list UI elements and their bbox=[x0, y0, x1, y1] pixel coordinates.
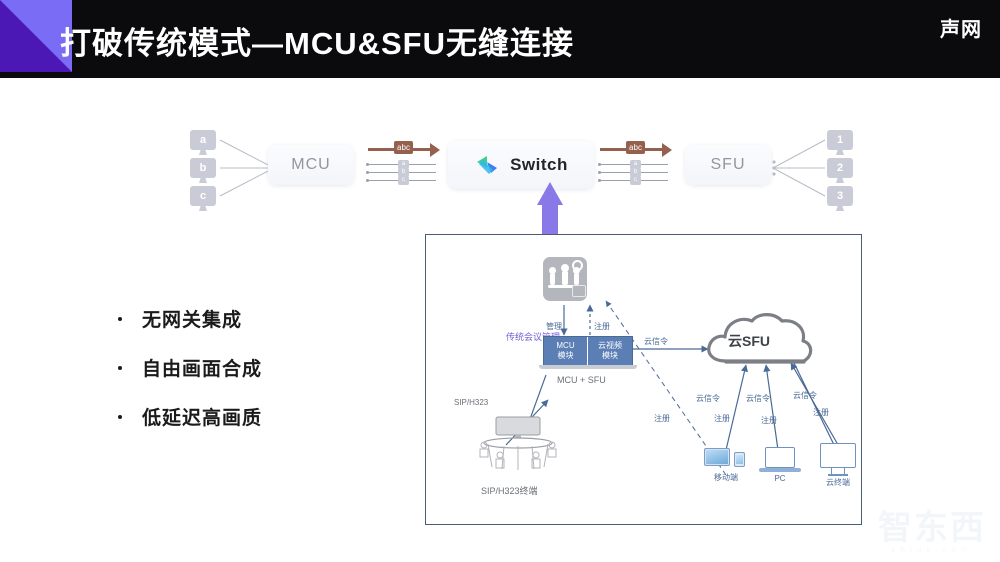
module-cloud-video-line2: 模块 bbox=[602, 351, 618, 361]
top-flow-diagram: a b c MCU abc a b bbox=[0, 118, 1000, 198]
cloud-signal-label-mobile: 云信令 bbox=[696, 393, 720, 404]
module-caption: MCU + SFU bbox=[557, 375, 606, 385]
cloud-signal-label-cloudterm: 云信令 bbox=[793, 390, 817, 401]
module-cloud-video: 云视频 模块 bbox=[588, 337, 632, 365]
bullet-item-2: 自由画面合成 bbox=[118, 354, 262, 381]
output-fan-out-lines bbox=[771, 128, 827, 208]
source-monitor-a: a bbox=[190, 130, 216, 150]
bullet-dot-icon bbox=[118, 415, 122, 419]
module-mcu-line1: MCU bbox=[556, 341, 574, 351]
node-mcu-label: MCU bbox=[291, 156, 330, 174]
register-label-mobile: 注册 bbox=[714, 413, 730, 424]
module-mcu-line2: 模块 bbox=[558, 351, 574, 361]
laptop-icon bbox=[765, 447, 795, 468]
cloud-signal-label-left: 云信令 bbox=[644, 336, 668, 347]
bullet-label-3: 低延迟高画质 bbox=[142, 403, 262, 430]
source-monitor-c-label: c bbox=[200, 190, 206, 202]
settings-gear-icon bbox=[572, 260, 583, 271]
device-pc-label: PC bbox=[759, 474, 801, 483]
switch-icon bbox=[474, 154, 500, 176]
monitor-sub-icon bbox=[572, 285, 586, 297]
output-monitor-2-label: 2 bbox=[837, 162, 843, 174]
architecture-panel: 传统会议管理 管理 注册 MCU 模块 云视频 模块 bbox=[425, 234, 862, 525]
output-monitor-1: 1 bbox=[827, 130, 853, 150]
node-switch-label: Switch bbox=[510, 155, 568, 175]
page-title: 打破传统模式—MCU&SFU无缝连接 bbox=[60, 18, 574, 63]
watermark-text: 智东西 bbox=[878, 500, 986, 549]
meeting-management-icon bbox=[543, 257, 587, 301]
stream-arrow-group-right: abc a b c bbox=[600, 146, 672, 188]
tablet-icon bbox=[704, 448, 730, 466]
sip-h323-label: SIP/H323 bbox=[454, 398, 488, 407]
node-sfu-label: SFU bbox=[711, 156, 746, 174]
output-monitor-3-label: 3 bbox=[837, 190, 843, 202]
node-switch: Switch bbox=[448, 141, 594, 189]
stream-tag-c: c bbox=[398, 176, 409, 185]
stream-tag-c-2: c bbox=[630, 176, 641, 185]
cloud-terminal-monitor-icon bbox=[820, 443, 856, 468]
manage-edge-label: 管理 bbox=[546, 321, 562, 332]
merged-stream-label-2: abc bbox=[626, 141, 645, 154]
register-label-pc: 注册 bbox=[761, 415, 777, 426]
cloud-sfu-label: 云SFU bbox=[728, 331, 770, 351]
slide-header: 打破传统模式—MCU&SFU无缝连接 声网 bbox=[0, 0, 1000, 78]
cloud-signal-label-pc: 云信令 bbox=[746, 393, 770, 404]
phone-icon bbox=[734, 452, 745, 467]
register-edge-label: 注册 bbox=[594, 321, 610, 332]
device-mobile-label: 移动端 bbox=[704, 472, 748, 483]
bullet-label-1: 无网关集成 bbox=[142, 305, 242, 332]
bullet-label-2: 自由画面合成 bbox=[142, 354, 262, 381]
mcu-sfu-module-box: MCU 模块 云视频 模块 bbox=[543, 336, 633, 366]
device-cloud-terminal-label: 云终端 bbox=[818, 477, 858, 488]
bullet-dot-icon bbox=[118, 317, 122, 321]
source-monitor-c: c bbox=[190, 186, 216, 206]
watermark: 智东西 zhidx.com bbox=[878, 500, 986, 554]
merged-stream-arrowhead-icon bbox=[430, 143, 440, 157]
source-monitor-b: b bbox=[190, 158, 216, 178]
node-mcu: MCU bbox=[268, 145, 354, 185]
source-monitor-b-label: b bbox=[200, 162, 207, 174]
agora-brand-label: 声网 bbox=[940, 13, 982, 42]
node-sfu: SFU bbox=[685, 145, 771, 185]
stream-arrow-group-left: abc a b c bbox=[368, 146, 440, 188]
watermark-subtext: zhidx.com bbox=[878, 545, 986, 554]
bullet-dot-icon bbox=[118, 366, 122, 370]
register-label-dashed: 注册 bbox=[654, 413, 670, 424]
output-monitor-1-label: 1 bbox=[837, 134, 843, 146]
output-monitor-3: 3 bbox=[827, 186, 853, 206]
output-monitor-2: 2 bbox=[827, 158, 853, 178]
sip-terminal-label: SIP/H323终端 bbox=[481, 484, 538, 497]
bullet-item-1: 无网关集成 bbox=[118, 305, 262, 332]
slide-root: 打破传统模式—MCU&SFU无缝连接 声网 a b c MCU bbox=[0, 0, 1000, 562]
module-cloud-video-line1: 云视频 bbox=[598, 341, 622, 351]
bullet-item-3: 低延迟高画质 bbox=[118, 403, 262, 430]
conference-room-icon bbox=[474, 415, 562, 480]
source-monitor-a-label: a bbox=[200, 134, 206, 146]
merged-stream-arrowhead-icon-2 bbox=[662, 143, 672, 157]
register-label-cloudterm: 注册 bbox=[813, 407, 829, 418]
module-tray-base bbox=[539, 365, 637, 369]
feature-bullet-list: 无网关集成 自由画面合成 低延迟高画质 bbox=[118, 305, 262, 452]
merged-stream-label: abc bbox=[394, 141, 413, 154]
module-mcu: MCU 模块 bbox=[544, 337, 588, 365]
